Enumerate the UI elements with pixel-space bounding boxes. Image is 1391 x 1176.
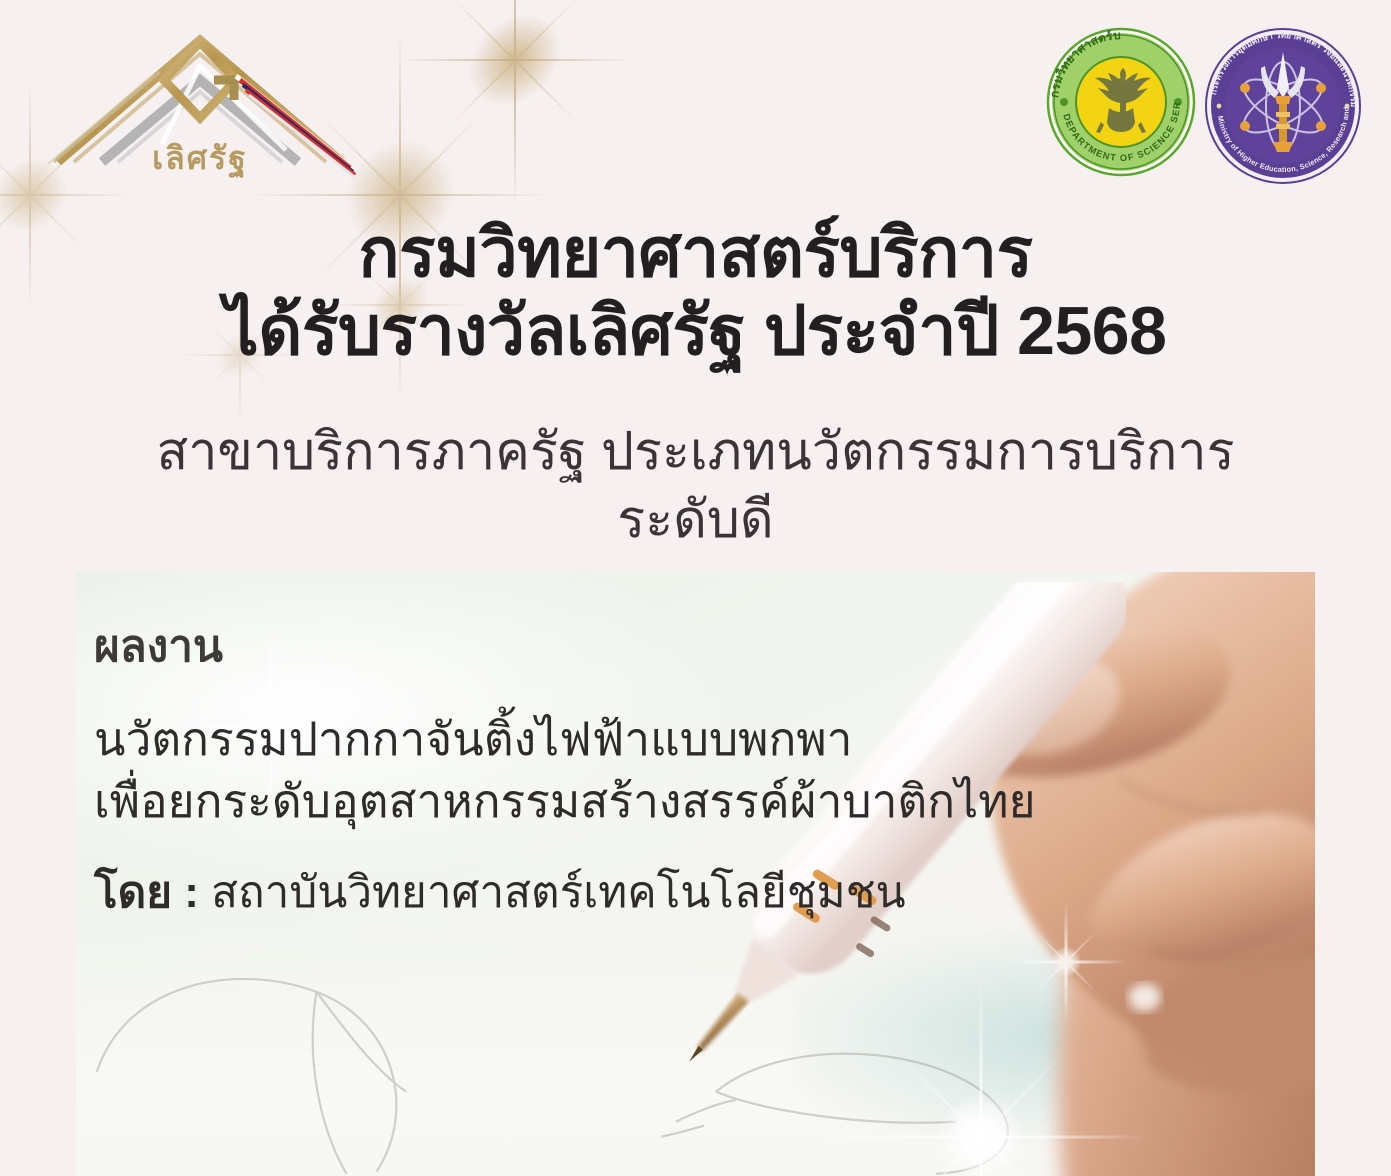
award-logo-label: เลิศรัฐ [40,133,360,184]
page-subtitle: สาขาบริการภาครัฐ ประเภทนวัตกรรมการบริการ… [0,418,1391,554]
agency-seals: กรมวิทยาศาสตร์บริการ DEPARTMENT OF SCIEN… [1045,26,1363,186]
poster-header: เลิศรัฐ [0,0,1391,215]
work-label: ผลงาน [94,622,1104,672]
title-line-2: ได้รับรางวัลเลิศรัฐ ประจำปี 2568 [0,292,1391,370]
department-of-science-service-seal: กรมวิทยาศาสตร์บริการ DEPARTMENT OF SCIEN… [1045,26,1197,178]
page-title: กรมวิทยาศาสตร์บริการ ได้รับรางวัลเลิศรัฐ… [0,214,1391,370]
work-description: ผลงาน นวัตกรรมปากกาจันติ้งไฟฟ้าแบบพกพา เ… [94,622,1104,920]
subtitle-line-1: สาขาบริการภาครัฐ ประเภทนวัตกรรมการบริการ [0,418,1391,486]
subtitle-line-2: ระดับดี [0,486,1391,554]
work-by-label: โดย : [94,868,199,917]
work-desc-line-1: นวัตกรรมปากกาจันติ้งไฟฟ้าแบบพกพา [94,708,1104,770]
ministry-of-higher-education-seal: กระทรวงการอุดมศึกษา วิทยาศาสตร์ วิจัยและ… [1203,26,1363,186]
work-photo-panel: ผลงาน นวัตกรรมปากกาจันติ้งไฟฟ้าแบบพกพา เ… [76,572,1315,1176]
work-by-value: สถาบันวิทยาศาสตร์เทคโนโลยีชุมชน [211,868,905,917]
mhesi-seal-icon: กระทรวงการอุดมศึกษา วิทยาศาสตร์ วิจัยและ… [1203,26,1363,186]
dss-seal-icon: กรมวิทยาศาสตร์บริการ DEPARTMENT OF SCIEN… [1045,26,1197,178]
title-line-1: กรมวิทยาศาสตร์บริการ [0,214,1391,292]
award-logo: เลิศรัฐ [40,22,360,190]
work-desc-line-2: เพื่อยกระดับอุตสาหกรรมสร้างสรรค์ผ้าบาติก… [94,770,1104,832]
work-by-row: โดย : สถาบันวิทยาศาสตร์เทคโนโลยีชุมชน [94,866,1104,920]
